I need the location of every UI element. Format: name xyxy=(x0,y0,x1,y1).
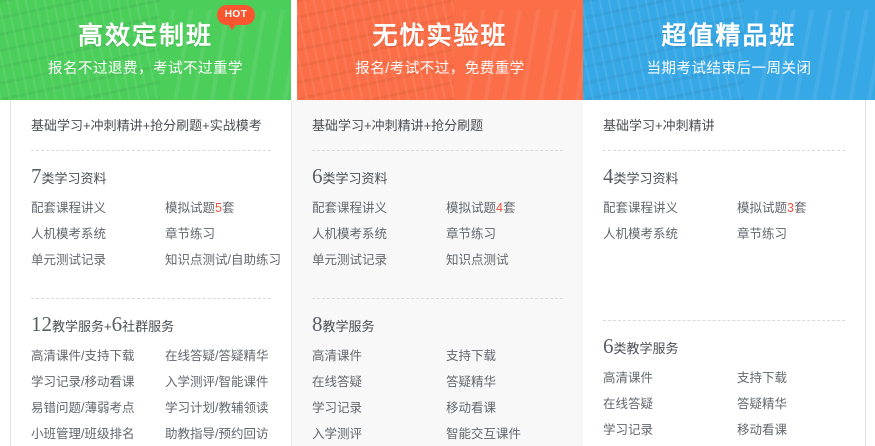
list-item: 单元测试记录 知识点测试 xyxy=(312,252,563,269)
material-cell: 模拟试题4套 xyxy=(446,200,563,217)
service-cell: 移动看课 xyxy=(446,400,563,417)
spacer xyxy=(31,278,271,298)
service-cell: 答疑精华 xyxy=(446,374,563,391)
plan-title-1: 高效定制班 xyxy=(78,21,213,51)
services-heading-3: 6类教学服务 xyxy=(603,334,845,361)
materials-heading-3: 4类学习资料 xyxy=(603,164,845,191)
list-item: 人机模考系统 章节练习 xyxy=(31,226,271,243)
materials-list-2: 配套课程讲义 模拟试题4套 人机模考系统 章节练习 单元测试记录 知识点测试 xyxy=(312,200,563,269)
services-plus-1: + xyxy=(104,319,112,334)
plan-subtitle-3: 当期考试结束后一周关闭 xyxy=(583,59,875,79)
material-count: 5 xyxy=(215,201,222,215)
service-cell: 在线答疑/答疑精华 xyxy=(165,348,271,365)
plan-body-2: 基础学习+冲刺精讲+抢分刷题 6类学习资料 配套课程讲义 模拟试题4套 人机模考… xyxy=(292,100,583,446)
hot-badge-label: HOT xyxy=(225,10,248,20)
service-cell: 高清课件/支持下载 xyxy=(31,348,165,365)
material-cell: 人机模考系统 xyxy=(312,226,446,243)
list-item: 单元测试记录 知识点测试/自助练习 xyxy=(31,252,271,269)
plan-body-3: 基础学习+冲刺精讲 4类学习资料 配套课程讲义 模拟试题3套 人机模考系统 章节… xyxy=(583,100,866,446)
divider-materials-2 xyxy=(312,150,563,151)
plan-title-2: 无忧实验班 xyxy=(372,21,507,51)
list-item: 小班管理/班级排名 助教指导/预约回访 xyxy=(31,426,271,443)
materials-label-1: 类学习资料 xyxy=(42,171,107,186)
list-item: 高清课件 支持下载 xyxy=(312,348,563,365)
course-stages-3: 基础学习+冲刺精讲 xyxy=(603,117,845,135)
spacer xyxy=(603,252,845,320)
list-item: 人机模考系统 章节练习 xyxy=(603,226,845,243)
list-item: 在线答疑 答疑精华 xyxy=(312,374,563,391)
plan-subtitle-1: 报名不过退费，考试不过重学 xyxy=(0,59,291,79)
service-cell: 智能交互课件 xyxy=(446,426,563,443)
service-cell: 学习记录 xyxy=(312,400,446,417)
plan-column-wuyou-shiyan-ban[interactable]: 无忧实验班 报名/考试不过，免费重学 基础学习+冲刺精讲+抢分刷题 6类学习资料… xyxy=(292,0,583,446)
services-label-3: 类教学服务 xyxy=(614,341,679,356)
material-cell: 模拟试题3套 xyxy=(737,200,845,217)
service-cell: 助教指导/预约回访 xyxy=(165,426,271,443)
service-cell: 学习计划/教辅领读 xyxy=(165,400,271,417)
services-count2-1: 6 xyxy=(112,312,123,336)
materials-label-3: 类学习资料 xyxy=(614,171,679,186)
material-suffix: 套 xyxy=(794,201,807,215)
service-cell: 小班管理/班级排名 xyxy=(31,426,165,443)
list-item: 配套课程讲义 模拟试题4套 xyxy=(312,200,563,217)
material-cell: 知识点测试/自助练习 xyxy=(165,252,281,269)
materials-count-1: 7 xyxy=(31,164,42,188)
hot-badge-tail-icon xyxy=(228,24,237,30)
material-cell: 章节练习 xyxy=(446,226,563,243)
course-plan-comparison: 高效定制班 HOT 报名不过退费，考试不过重学 基础学习+冲刺精讲+抢分刷题+实… xyxy=(0,0,875,446)
divider-materials-3 xyxy=(603,150,845,151)
material-cell: 人机模考系统 xyxy=(31,226,165,243)
materials-heading-1: 7类学习资料 xyxy=(31,164,271,191)
services-list-3: 高清课件 支持下载 在线答疑 答疑精华 学习记录 移动看课 xyxy=(603,370,845,439)
services-count-1: 12 xyxy=(31,312,52,336)
service-cell: 支持下载 xyxy=(737,370,845,387)
divider-services-2 xyxy=(312,298,563,299)
list-item: 高清课件 支持下载 xyxy=(603,370,845,387)
services-list-2: 高清课件 支持下载 在线答疑 答疑精华 学习记录 移动看课 入学测评 智能交互课… xyxy=(312,348,563,443)
material-cell: 章节练习 xyxy=(737,226,845,243)
material-cell: 人机模考系统 xyxy=(603,226,737,243)
list-item: 入学测评 智能交互课件 xyxy=(312,426,563,443)
material-text: 模拟试题 xyxy=(165,201,215,215)
materials-heading-2: 6类学习资料 xyxy=(312,164,563,191)
material-cell: 单元测试记录 xyxy=(312,252,446,269)
materials-label-2: 类学习资料 xyxy=(323,171,388,186)
service-cell: 在线答疑 xyxy=(603,396,737,413)
list-item: 在线答疑 答疑精华 xyxy=(603,396,845,413)
divider-services-3 xyxy=(603,320,845,321)
services-label2-1: 社群服务 xyxy=(122,319,174,334)
materials-count-3: 4 xyxy=(603,164,614,188)
course-stages-1: 基础学习+冲刺精讲+抢分刷题+实战模考 xyxy=(31,117,271,135)
list-item: 高清课件/支持下载 在线答疑/答疑精华 xyxy=(31,348,271,365)
material-cell: 配套课程讲义 xyxy=(31,200,165,217)
spacer xyxy=(312,278,563,298)
list-item: 人机模考系统 章节练习 xyxy=(312,226,563,243)
plan-header-3: 超值精品班 当期考试结束后一周关闭 xyxy=(583,0,875,100)
material-cell: 模拟试题5套 xyxy=(165,200,271,217)
material-text: 模拟试题 xyxy=(446,201,496,215)
divider-materials-1 xyxy=(31,150,271,151)
list-item: 学习记录 移动看课 xyxy=(603,422,845,439)
services-count-2: 8 xyxy=(312,312,323,336)
material-text: 模拟试题 xyxy=(737,201,787,215)
list-item: 学习记录 移动看课 xyxy=(312,400,563,417)
service-cell: 易错问题/薄弱考点 xyxy=(31,400,165,417)
course-stages-2: 基础学习+冲刺精讲+抢分刷题 xyxy=(312,117,563,135)
material-cell: 配套课程讲义 xyxy=(312,200,446,217)
hot-badge: HOT xyxy=(217,5,255,25)
services-count-3: 6 xyxy=(603,334,614,358)
service-cell: 支持下载 xyxy=(446,348,563,365)
service-cell: 高清课件 xyxy=(312,348,446,365)
material-count: 3 xyxy=(787,201,794,215)
material-cell: 单元测试记录 xyxy=(31,252,165,269)
plan-header-1: 高效定制班 HOT 报名不过退费，考试不过重学 xyxy=(0,0,291,100)
list-item: 配套课程讲义 模拟试题3套 xyxy=(603,200,845,217)
material-cell: 配套课程讲义 xyxy=(603,200,737,217)
list-item: 易错问题/薄弱考点 学习计划/教辅领读 xyxy=(31,400,271,417)
plan-column-gaoxiao-dingzhi-ban[interactable]: 高效定制班 HOT 报名不过退费，考试不过重学 基础学习+冲刺精讲+抢分刷题+实… xyxy=(0,0,292,446)
materials-list-1: 配套课程讲义 模拟试题5套 人机模考系统 章节练习 单元测试记录 知识点测试/自… xyxy=(31,200,271,269)
service-cell: 学习记录 xyxy=(603,422,737,439)
list-item: 配套课程讲义 模拟试题5套 xyxy=(31,200,271,217)
material-suffix: 套 xyxy=(503,201,516,215)
services-heading-1: 12教学服务+6社群服务 xyxy=(31,312,271,339)
plan-body-1: 基础学习+冲刺精讲+抢分刷题+实战模考 7类学习资料 配套课程讲义 模拟试题5套… xyxy=(10,100,292,446)
list-item: 学习记录/移动看课 入学测评/智能课件 xyxy=(31,374,271,391)
plan-subtitle-2: 报名/考试不过，免费重学 xyxy=(297,59,583,79)
material-cell: 章节练习 xyxy=(165,226,271,243)
plan-header-2: 无忧实验班 报名/考试不过，免费重学 xyxy=(297,0,583,100)
material-count: 4 xyxy=(496,201,503,215)
plan-title-3: 超值精品班 xyxy=(661,21,796,51)
service-cell: 入学测评 xyxy=(312,426,446,443)
divider-services-1 xyxy=(31,298,271,299)
service-cell: 学习记录/移动看课 xyxy=(31,374,165,391)
materials-list-3: 配套课程讲义 模拟试题3套 人机模考系统 章节练习 xyxy=(603,200,845,243)
services-label-2: 教学服务 xyxy=(323,319,375,334)
services-list-1: 高清课件/支持下载 在线答疑/答疑精华 学习记录/移动看课 入学测评/智能课件 … xyxy=(31,348,271,446)
service-cell: 答疑精华 xyxy=(737,396,845,413)
services-heading-2: 8教学服务 xyxy=(312,312,563,339)
service-cell: 在线答疑 xyxy=(312,374,446,391)
service-cell: 高清课件 xyxy=(603,370,737,387)
plan-column-chaozhi-jingpin-ban[interactable]: 超值精品班 当期考试结束后一周关闭 基础学习+冲刺精讲 4类学习资料 配套课程讲… xyxy=(583,0,875,446)
service-cell: 入学测评/智能课件 xyxy=(165,374,271,391)
materials-count-2: 6 xyxy=(312,164,323,188)
material-suffix: 套 xyxy=(222,201,235,215)
services-label-1: 教学服务 xyxy=(52,319,104,334)
material-cell: 知识点测试 xyxy=(446,252,563,269)
service-cell: 移动看课 xyxy=(737,422,845,439)
